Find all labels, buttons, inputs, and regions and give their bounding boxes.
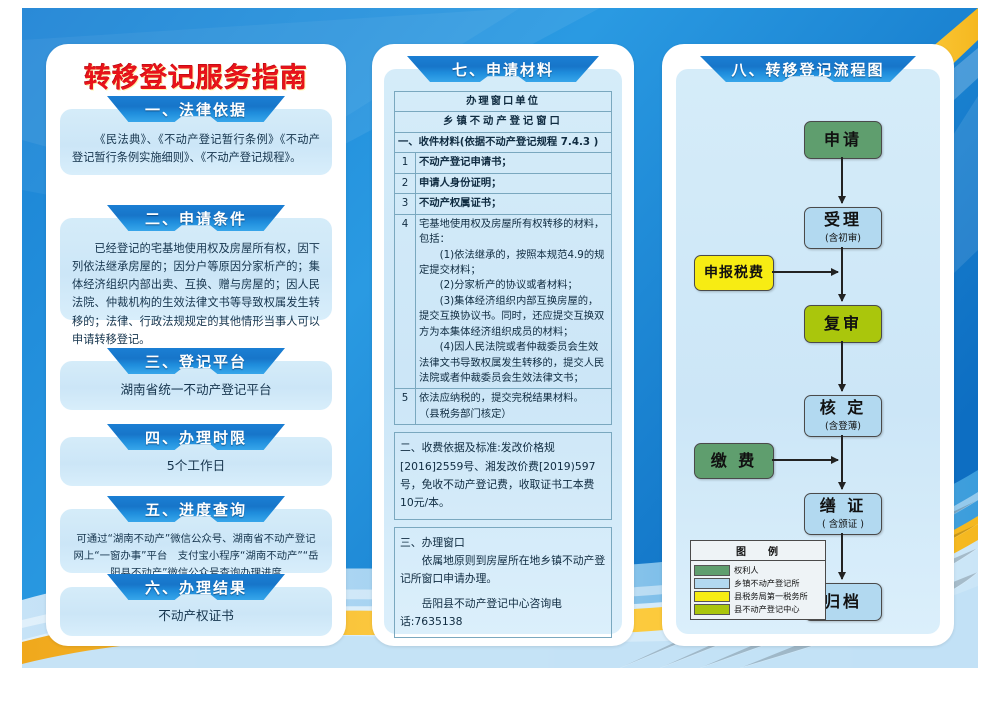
arrow-tax-to-trunk [772,271,838,273]
materials-table: 办理窗口单位 乡镇不动产登记窗口 一、收件材料(依据不动产登记规程 7.4.3 … [394,91,612,425]
service-window-phone: 岳阳县不动产登记中心咨询电话:7635138 [400,595,606,632]
table-row: 3 不动产权属证书； [395,194,612,214]
flow-node-accept[interactable]: 受理 (含初审) [804,207,882,249]
flow-node-verify-label: 核 定 [820,400,867,417]
flow-node-verify[interactable]: 核 定 (含登薄) [804,395,882,437]
table-row: 4 宅基地使用权及房屋所有权转移的材料，包括： (1)依法继承的，按照本规范4.… [395,214,612,389]
flow-node-apply[interactable]: 申请 [804,121,882,159]
service-window-body: 依属地原则到房屋所在地乡镇不动产登记所窗口申请办理。 [400,552,606,589]
flow-node-apply-label: 申请 [824,132,862,149]
row4-item-2: (2)分家析产的协议或者材料； [419,278,608,293]
legend-swatch-rights-holder [694,565,730,576]
row-text: 依法应纳税的，提交完税结果材料。 （县税务部门核定） [416,389,612,425]
row-number: 1 [395,153,416,173]
section-4-text: 5个工作日 [167,456,225,476]
flow-node-payment[interactable]: 缴 费 [694,443,774,479]
row-number: 5 [395,389,416,425]
legend-item: 权利人 [694,564,822,576]
table-row: 一、收件材料(依据不动产登记规程 7.4.3 ) [395,132,612,152]
flow-node-review-label: 复审 [824,316,862,333]
flow-node-certificate-sub: ( 含颁证 ) [822,516,864,530]
section-1-text: 《民法典》、《不动产登记暂行条例》《不动产登记暂行条例实施细则》、《不动产登记规… [72,131,320,167]
row-number: 4 [395,214,416,389]
row4-item-4: (4)因人民法院或者仲裁委员会生效法律文书导致权属发生转移的，提交人民法院或者仲… [419,340,608,386]
legend-label: 权利人 [734,564,759,576]
spacer [394,425,612,432]
flow-node-verify-sub: (含登薄) [825,418,861,432]
legend-title: 图 例 [691,541,825,561]
row-number: 3 [395,194,416,214]
table-section-1: 一、收件材料(依据不动产登记规程 7.4.3 ) [395,132,612,152]
row-text: 宅基地使用权及房屋所有权转移的材料，包括： (1)依法继承的，按照本规范4.9的… [416,214,612,389]
legend-item: 县税务局第一税务所 [694,590,822,602]
legend-swatch-township-office [694,578,730,589]
row-text: 不动产登记申请书； [416,153,612,173]
legend-label: 乡镇不动产登记所 [734,577,800,589]
section-3-text: 湖南省统一不动产登记平台 [120,380,271,400]
legend-swatch-registration-center [694,604,730,615]
table-row: 2 申请人身份证明； [395,173,612,193]
legend-swatch-tax-bureau [694,591,730,602]
flow-node-declare-tax[interactable]: 申报税费 [694,255,774,291]
table-row: 5 依法应纳税的，提交完税结果材料。 （县税务部门核定） [395,389,612,425]
legend-item: 县不动产登记中心 [694,603,822,615]
arrow-verify-to-cert [841,435,843,489]
flow-node-review[interactable]: 复审 [804,305,882,343]
page-title: 转移登记服务指南 [46,56,346,95]
section-flowchart: 申请 受理 (含初审) 申报税费 复审 核 定 (含登薄) [676,56,940,634]
arrow-accept-to-review [841,247,843,301]
table-row: 办理窗口单位 [395,92,612,112]
flow-node-certificate[interactable]: 缮 证 ( 含颁证 ) [804,493,882,535]
row4-lead: 宅基地使用权及房屋所有权转移的材料，包括： [419,217,608,248]
row4-item-3: (3)集体经济组织内部互换房屋的，提交互换协议书。同时，还应提交互换双方为本集体… [419,294,608,340]
fee-standard-block: 二、收费依据及标准:发改价格规[2016]2559号、湘发改价费[2019)59… [394,432,612,519]
flow-node-accept-label: 受理 [824,212,862,229]
flow-node-certificate-label: 缮 证 [820,498,867,515]
flow-node-accept-sub: (含初审) [825,230,861,244]
section-2-text: 已经登记的宅基地使用权及房屋所有权，因下列依法继承房屋的；因分户等原因分家析产的… [72,240,320,349]
legend-item: 乡镇不动产登记所 [694,577,822,589]
row5-line-1: 依法应纳税的，提交完税结果材料。 [419,391,608,406]
row-text: 申请人身份证明； [416,173,612,193]
arrow-payment-to-trunk [772,459,838,461]
spacer [394,520,612,527]
legend-label: 县税务局第一税务所 [734,590,808,602]
legend-label: 县不动产登记中心 [734,603,800,615]
service-window-block: 三、办理窗口 依属地原则到房屋所在地乡镇不动产登记所窗口申请办理。 岳阳县不动产… [394,527,612,639]
legend-list: 权利人 乡镇不动产登记所 县税务局第一税务所 县不动产登记中心 [691,561,825,619]
fee-standard-text: 二、收费依据及标准:发改价格规[2016]2559号、湘发改价费[2019)59… [400,439,606,512]
flow-node-payment-label: 缴 费 [711,453,758,470]
flowchart-legend: 图 例 权利人 乡镇不动产登记所 县税务局第一税务所 [690,540,826,620]
section-6-text: 不动产权证书 [158,606,234,626]
flow-node-declare-tax-label: 申报税费 [704,266,764,281]
flow-node-archive-label: 归档 [824,594,862,611]
table-header-unit: 办理窗口单位 [395,92,612,112]
service-window-title: 三、办理窗口 [400,534,606,552]
table-header-window: 乡镇不动产登记窗口 [395,112,612,132]
arrow-apply-to-accept [841,157,843,203]
row-number: 2 [395,173,416,193]
arrow-review-to-verify [841,341,843,391]
row4-item-1: (1)依法继承的，按照本规范4.9的规定提交材料； [419,248,608,279]
arrow-cert-to-archive [841,533,843,579]
table-row: 乡镇不动产登记窗口 [395,112,612,132]
row-text: 不动产权属证书； [416,194,612,214]
table-row: 1 不动产登记申请书； [395,153,612,173]
row5-line-2: （县税务部门核定） [419,407,608,422]
section-application-materials: 办理窗口单位 乡镇不动产登记窗口 一、收件材料(依据不动产登记规程 7.4.3 … [384,56,622,634]
